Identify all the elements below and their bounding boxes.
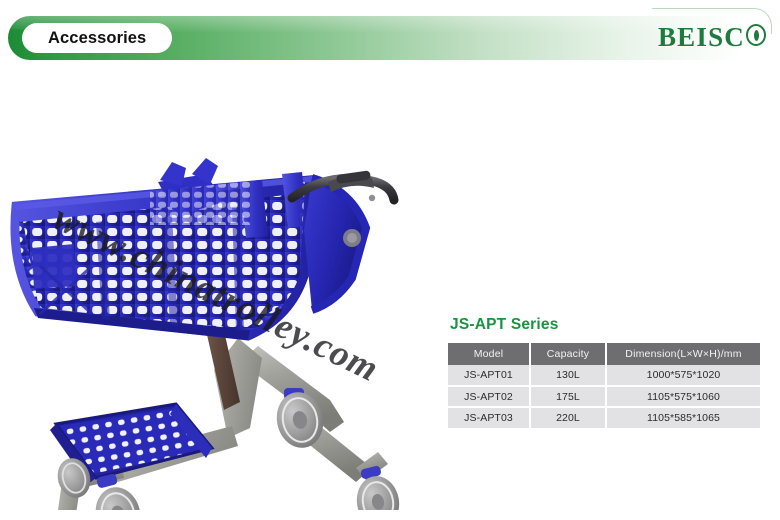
table-row: JS-APT01 130L 1000*575*1020 (448, 365, 760, 386)
product-page: Accessories BEISC (0, 0, 780, 520)
category-pill-label: Accessories (48, 29, 146, 48)
cell-dimension: 1000*575*1020 (606, 365, 760, 386)
brand-logo[interactable]: BEISC (658, 22, 766, 53)
trolley-illustration (0, 70, 450, 510)
cell-capacity: 175L (530, 386, 606, 407)
cell-dimension: 1105*575*1060 (606, 386, 760, 407)
leaf-in-circle-icon (746, 24, 766, 46)
table-row: JS-APT03 220L 1105*585*1065 (448, 407, 760, 428)
column-header-dimension: Dimension(L×W×H)/mm (606, 343, 760, 365)
spec-section: JS-APT Series Model Capacity Dimension(L… (448, 316, 762, 428)
spec-table: Model Capacity Dimension(L×W×H)/mm JS-AP… (448, 343, 760, 428)
table-row: JS-APT02 175L 1105*575*1060 (448, 386, 760, 407)
column-header-model: Model (448, 343, 530, 365)
product-photo (0, 70, 450, 510)
spec-series-title: JS-APT Series (450, 316, 762, 334)
spec-table-header-row: Model Capacity Dimension(L×W×H)/mm (448, 343, 760, 365)
brand-logo-text: BEISC (658, 22, 745, 53)
category-pill[interactable]: Accessories (22, 23, 172, 53)
cell-capacity: 220L (530, 407, 606, 428)
cell-dimension: 1105*585*1065 (606, 407, 760, 428)
cell-model: JS-APT02 (448, 386, 530, 407)
cell-capacity: 130L (530, 365, 606, 386)
cell-model: JS-APT03 (448, 407, 530, 428)
column-header-capacity: Capacity (530, 343, 606, 365)
cell-model: JS-APT01 (448, 365, 530, 386)
